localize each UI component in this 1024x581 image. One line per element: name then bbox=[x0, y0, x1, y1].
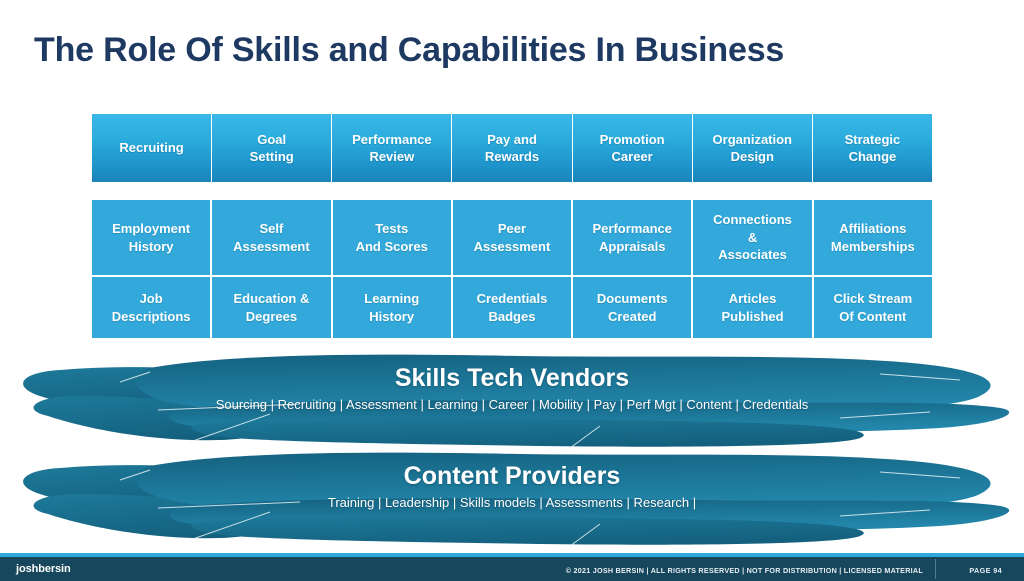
data-source-box[interactable]: PerformanceAppraisals bbox=[573, 200, 691, 275]
data-source-box[interactable]: PeerAssessment bbox=[453, 200, 571, 275]
capability-box[interactable]: PromotionCareer bbox=[573, 114, 692, 182]
brand-logo: joshbersin bbox=[16, 563, 71, 575]
footer-divider bbox=[935, 559, 936, 579]
capability-row-1: Recruiting GoalSetting PerformanceReview… bbox=[92, 114, 932, 182]
data-source-box[interactable]: SelfAssessment bbox=[212, 200, 330, 275]
cloud-shape-icon bbox=[0, 450, 1024, 548]
capability-box[interactable]: GoalSetting bbox=[212, 114, 331, 182]
data-source-box[interactable]: Connections&Associates bbox=[693, 200, 811, 275]
data-source-box[interactable]: EmploymentHistory bbox=[92, 200, 210, 275]
data-source-box[interactable]: DocumentsCreated bbox=[573, 277, 691, 338]
data-source-row-1: EmploymentHistory SelfAssessment TestsAn… bbox=[92, 200, 932, 275]
capability-box[interactable]: OrganizationDesign bbox=[693, 114, 812, 182]
data-source-box[interactable]: CredentialsBadges bbox=[453, 277, 571, 338]
capability-box[interactable]: StrategicChange bbox=[813, 114, 932, 182]
cloud-shape-icon bbox=[0, 352, 1024, 450]
capability-box[interactable]: Pay andRewards bbox=[452, 114, 571, 182]
data-source-row-2: JobDescriptions Education &Degrees Learn… bbox=[92, 277, 932, 338]
capability-box[interactable]: PerformanceReview bbox=[332, 114, 451, 182]
data-source-box[interactable]: TestsAnd Scores bbox=[333, 200, 451, 275]
data-source-box[interactable]: LearningHistory bbox=[333, 277, 451, 338]
data-source-grid: EmploymentHistory SelfAssessment TestsAn… bbox=[92, 200, 932, 338]
footer-copyright: © 2021 JOSH BERSIN | ALL RIGHTS RESERVED… bbox=[566, 566, 923, 575]
content-providers-cloud[interactable]: Content Providers Training | Leadership … bbox=[0, 450, 1024, 548]
data-source-box[interactable]: Education &Degrees bbox=[212, 277, 330, 338]
data-source-box[interactable]: AffiliationsMemberships bbox=[814, 200, 932, 275]
skills-tech-vendors-cloud[interactable]: Skills Tech Vendors Sourcing | Recruitin… bbox=[0, 352, 1024, 450]
data-source-box[interactable]: ArticlesPublished bbox=[693, 277, 811, 338]
slide-canvas: The Role Of Skills and Capabilities In B… bbox=[0, 0, 1024, 581]
data-source-box[interactable]: JobDescriptions bbox=[92, 277, 210, 338]
capability-box[interactable]: Recruiting bbox=[92, 114, 211, 182]
page-title: The Role Of Skills and Capabilities In B… bbox=[34, 31, 784, 70]
page-number: PAGE 94 bbox=[969, 566, 1002, 575]
data-source-box[interactable]: Click StreamOf Content bbox=[814, 277, 932, 338]
